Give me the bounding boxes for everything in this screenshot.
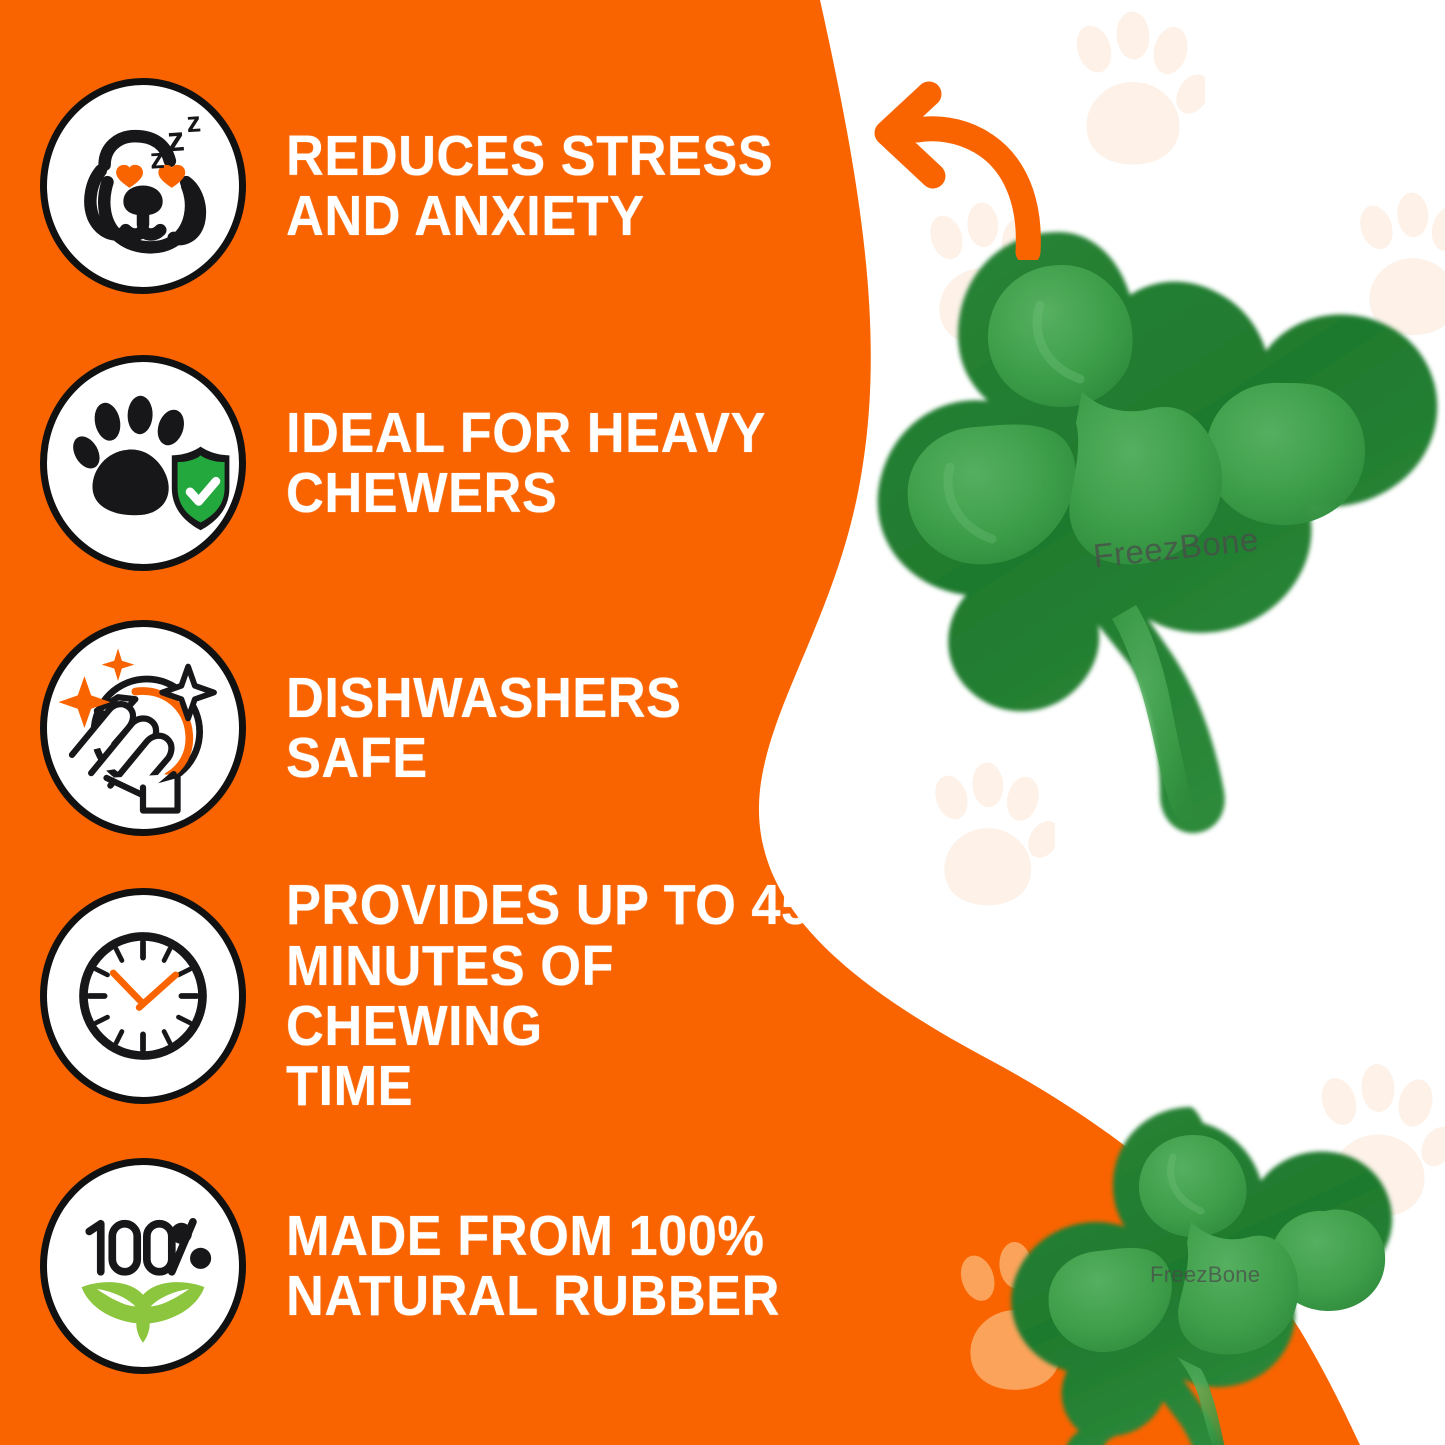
feature-label-dishwasher-safe: DISHWASHERS SAFE (286, 668, 814, 789)
feature-label-natural-rubber: MADE FROM 100% NATURAL RUBBER (286, 1206, 780, 1327)
feature-item-natural-rubber: MADE FROM 100% NATURAL RUBBER (40, 1158, 840, 1374)
infographic-canvas: FreezBone (0, 0, 1445, 1445)
feature-item-heavy-chewers: IDEAL FOR HEAVY CHEWERS (40, 355, 840, 571)
feature-label-reduces-stress: REDUCES STRESS AND ANXIETY (286, 126, 773, 247)
feature-item-reduces-stress: z z z REDUCES STRESS AND ANXIETY (40, 78, 840, 294)
hand-wiping-sparkle-icon (40, 620, 246, 836)
paw-shield-glyph (47, 365, 239, 561)
feature-list: z z z REDUCES STRESS AND ANXIETY (0, 0, 900, 1445)
hand-wiping-sparkle-glyph (47, 630, 239, 826)
svg-text:z: z (166, 120, 186, 159)
product-image-large-shamrock (830, 195, 1445, 860)
feature-label-heavy-chewers: IDEAL FOR HEAVY CHEWERS (286, 403, 766, 524)
clock-glyph (47, 898, 239, 1094)
sleeping-dog-glyph: z z z (47, 88, 239, 284)
paw-shield-icon (40, 355, 246, 571)
hundred-percent-leaf-glyph (47, 1168, 239, 1364)
svg-text:z: z (185, 106, 202, 139)
feature-item-dishwasher-safe: DISHWASHERS SAFE (40, 620, 860, 836)
feature-label-chewing-time: PROVIDES UP TO 45 MINUTES OF CHEWING TIM… (286, 875, 869, 1117)
feature-item-chewing-time: PROVIDES UP TO 45 MINUTES OF CHEWING TIM… (40, 888, 920, 1104)
product-image-small-shamrock (995, 1095, 1415, 1445)
hundred-percent-leaf-icon (40, 1158, 246, 1374)
svg-text:z: z (149, 143, 166, 176)
clock-icon (40, 888, 246, 1104)
sleeping-dog-icon: z z z (40, 78, 246, 294)
